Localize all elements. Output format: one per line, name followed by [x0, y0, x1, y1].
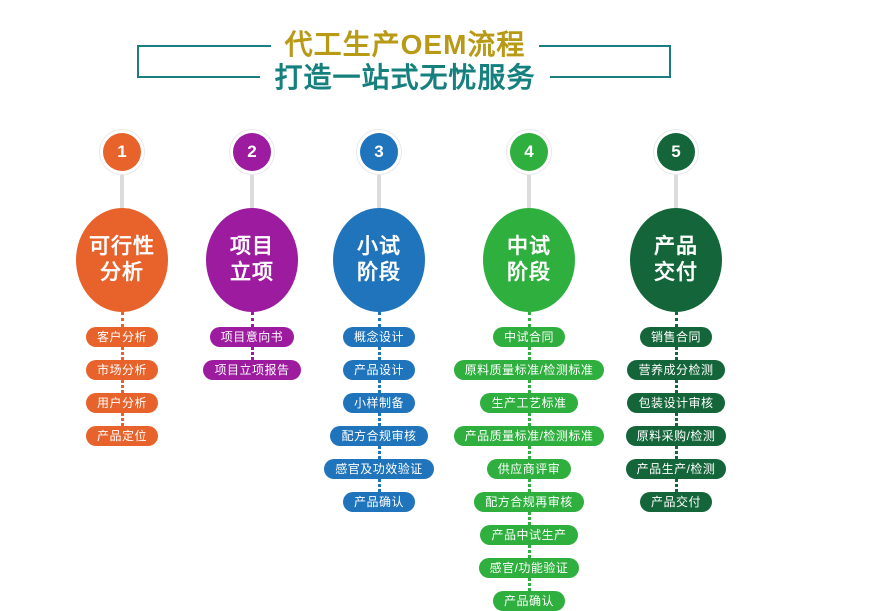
step-pill[interactable]: 包装设计审核 — [627, 393, 724, 413]
dotted-connector — [675, 446, 678, 459]
stage-bubble[interactable]: 小试阶段 — [333, 208, 425, 312]
dotted-connector — [378, 413, 381, 426]
step-pill[interactable]: 产品定位 — [86, 426, 158, 446]
title-secondary-text: 打造一站式无忧服务 — [260, 62, 549, 94]
connector-stem — [527, 175, 531, 210]
title-primary: 代工生产OEM流程 — [137, 29, 673, 61]
step-pill[interactable]: 营养成分检测 — [627, 360, 724, 380]
step-pill[interactable]: 配方合规再审核 — [474, 492, 584, 512]
stage-title-line1: 可行性 — [89, 234, 155, 260]
step-pill[interactable]: 中试合同 — [493, 327, 565, 347]
dotted-connector — [121, 312, 124, 327]
step-pill[interactable]: 产品确认 — [493, 591, 565, 611]
dotted-connector — [675, 347, 678, 360]
dotted-connector — [675, 479, 678, 492]
step-pill[interactable]: 市场分析 — [86, 360, 158, 380]
dotted-connector — [528, 380, 531, 393]
step-pill[interactable]: 产品设计 — [343, 360, 415, 380]
step-pill[interactable]: 产品中试生产 — [480, 525, 577, 545]
step-pill[interactable]: 销售合同 — [640, 327, 712, 347]
dotted-connector — [528, 347, 531, 360]
process-column-5: 5产品交付销售合同营养成分检测包装设计审核原料采购/检测产品生产/检测产品交付 — [576, 133, 776, 512]
connector-stem — [120, 175, 124, 210]
stage-title-line2: 阶段 — [507, 260, 551, 286]
infographic-canvas: 代工生产OEM流程 打造一站式无忧服务 1可行性分析客户分析市场分析用户分析产品… — [0, 0, 881, 544]
stage-title-line1: 项目 — [230, 234, 274, 260]
dotted-connector — [528, 545, 531, 558]
dotted-connector — [378, 479, 381, 492]
dotted-connector — [251, 312, 254, 327]
step-pill[interactable]: 生产工艺标准 — [480, 393, 577, 413]
step-pill[interactable]: 概念设计 — [343, 327, 415, 347]
connector-stem — [250, 175, 254, 210]
step-pill[interactable]: 配方合规审核 — [330, 426, 427, 446]
step-number-badge[interactable]: 3 — [360, 133, 398, 171]
dotted-connector — [121, 347, 124, 360]
step-pill[interactable]: 客户分析 — [86, 327, 158, 347]
dotted-connector — [251, 347, 254, 360]
dotted-connector — [121, 380, 124, 393]
step-number-badge[interactable]: 5 — [657, 133, 695, 171]
dotted-connector — [121, 413, 124, 426]
stage-title-line2: 立项 — [230, 260, 274, 286]
step-pill[interactable]: 感官/功能验证 — [479, 558, 580, 578]
dotted-connector — [528, 446, 531, 459]
dotted-connector — [378, 446, 381, 459]
dotted-connector — [528, 512, 531, 525]
step-pill[interactable]: 产品确认 — [343, 492, 415, 512]
title-primary-text: 代工生产OEM流程 — [271, 29, 540, 61]
connector-stem — [674, 175, 678, 210]
dotted-connector — [528, 413, 531, 426]
step-pill[interactable]: 供应商评审 — [487, 459, 572, 479]
step-number-badge[interactable]: 4 — [510, 133, 548, 171]
step-pill[interactable]: 用户分析 — [86, 393, 158, 413]
dotted-connector — [528, 578, 531, 591]
dotted-connector — [675, 380, 678, 393]
stage-bubble[interactable]: 中试阶段 — [483, 208, 575, 312]
stage-title-line2: 分析 — [100, 260, 144, 286]
dotted-connector — [675, 413, 678, 426]
dotted-connector — [528, 312, 531, 327]
stage-title-line1: 中试 — [507, 234, 551, 260]
step-pill[interactable]: 感官及功效验证 — [324, 459, 434, 479]
step-pill[interactable]: 产品生产/检测 — [626, 459, 727, 479]
title-block: 代工生产OEM流程 打造一站式无忧服务 — [137, 18, 673, 100]
dotted-connector — [528, 479, 531, 492]
connector-stem — [377, 175, 381, 210]
step-pill[interactable]: 原料采购/检测 — [626, 426, 727, 446]
stage-title-line1: 小试 — [357, 234, 401, 260]
step-pill[interactable]: 小样制备 — [343, 393, 415, 413]
dotted-connector — [378, 312, 381, 327]
step-number-badge[interactable]: 1 — [103, 133, 141, 171]
stage-title-line1: 产品 — [654, 234, 698, 260]
dotted-connector — [378, 347, 381, 360]
dotted-connector — [378, 380, 381, 393]
dotted-connector — [675, 312, 678, 327]
step-number-badge[interactable]: 2 — [233, 133, 271, 171]
title-secondary: 打造一站式无忧服务 — [137, 62, 673, 94]
stage-bubble[interactable]: 产品交付 — [630, 208, 722, 312]
step-pill[interactable]: 产品交付 — [640, 492, 712, 512]
stage-title-line2: 交付 — [654, 260, 698, 286]
stage-title-line2: 阶段 — [357, 260, 401, 286]
